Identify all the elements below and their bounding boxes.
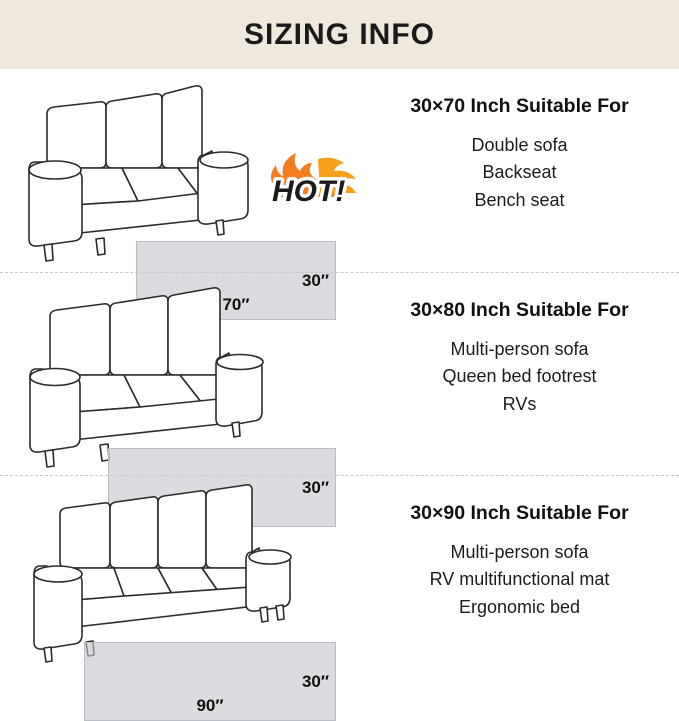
sofa-illustration-30x80: 80″ 30″ [0, 273, 360, 475]
size-title-30x90: 30×90 Inch Suitable For [410, 502, 628, 525]
size-title-30x80: 30×80 Inch Suitable For [410, 299, 628, 322]
sizing-info-page: SIZING INFO [0, 0, 679, 679]
use-item: RVs [442, 391, 596, 418]
use-item: Multi-person sofa [442, 336, 596, 363]
measure-box-30x90: 90″ 30″ [84, 642, 336, 721]
flame-icon: HOT! HOT! [258, 149, 378, 211]
use-item: Double sofa [471, 132, 567, 159]
uses-list-30x70: Double sofa Backseat Bench seat [471, 132, 567, 214]
uses-list-30x80: Multi-person sofa Queen bed footrest RVs [442, 336, 596, 418]
use-item: Queen bed footrest [442, 363, 596, 390]
section-30x90: 90″ 30″ 30×90 Inch Suitable For Multi-pe… [0, 475, 679, 678]
size-title-30x70: 30×70 Inch Suitable For [410, 95, 628, 118]
text-block-30x80: 30×80 Inch Suitable For Multi-person sof… [360, 273, 679, 475]
section-30x70: HOT! HOT! 70″ 30″ 30×70 Inch Suitable Fo… [0, 69, 679, 272]
hot-badge: HOT! HOT! [258, 149, 378, 211]
text-block-30x70: 30×70 Inch Suitable For Double sofa Back… [360, 69, 679, 272]
text-block-30x90: 30×90 Inch Suitable For Multi-person sof… [360, 476, 679, 678]
sofa-illustration-30x70: HOT! HOT! 70″ 30″ [0, 69, 360, 272]
use-item: Bench seat [471, 187, 567, 214]
use-item: Multi-person sofa [430, 539, 610, 566]
use-item: RV multifunctional mat [430, 566, 610, 593]
hot-badge-label: HOT! [272, 175, 345, 208]
page-header: SIZING INFO [0, 0, 679, 69]
page-title: SIZING INFO [244, 18, 435, 52]
measure-width-30x90: 90″ [85, 696, 335, 716]
uses-list-30x90: Multi-person sofa RV multifunctional mat… [430, 539, 610, 621]
sofa-illustration-30x90: 90″ 30″ [0, 476, 360, 678]
measure-height-30x90: 30″ [302, 672, 329, 692]
use-item: Ergonomic bed [430, 594, 610, 621]
section-30x80: 80″ 30″ 30×80 Inch Suitable For Multi-pe… [0, 272, 679, 475]
use-item: Backseat [471, 159, 567, 186]
three-seat-sofa-icon [0, 273, 360, 476]
